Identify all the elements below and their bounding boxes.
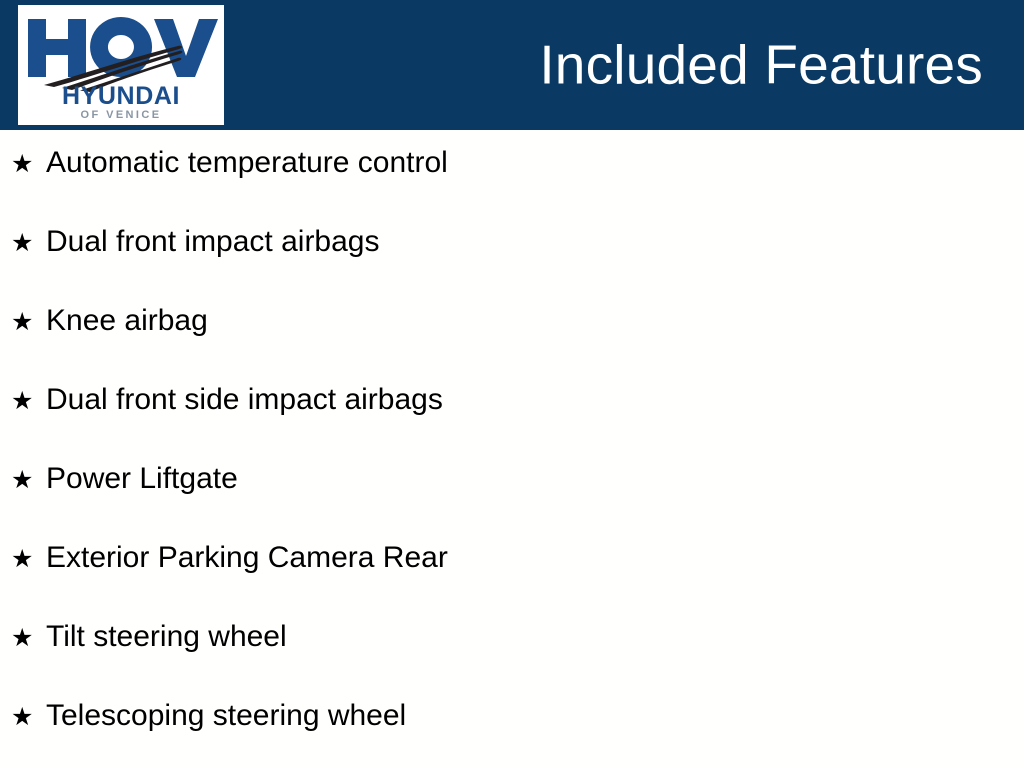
list-item: ★ Automatic temperature control bbox=[0, 148, 1024, 227]
feature-label: Exterior Parking Camera Rear bbox=[46, 543, 448, 573]
hov-hyundai-of-venice-logo-icon: HYUNDAI OF VENICE bbox=[18, 5, 224, 125]
feature-label: Power Liftgate bbox=[46, 464, 238, 494]
list-item: ★ Exterior Parking Camera Rear bbox=[0, 543, 1024, 622]
star-bullet-icon: ★ bbox=[11, 547, 46, 572]
feature-label: Tilt steering wheel bbox=[46, 622, 287, 652]
star-bullet-icon: ★ bbox=[11, 626, 46, 651]
list-item: ★ Telescoping steering wheel bbox=[0, 701, 1024, 768]
slide: HYUNDAI OF VENICE Included Features ★ Au… bbox=[0, 0, 1024, 768]
list-item: ★ Dual front side impact airbags bbox=[0, 385, 1024, 464]
svg-text:HYUNDAI: HYUNDAI bbox=[62, 82, 180, 110]
slide-header: HYUNDAI OF VENICE Included Features bbox=[0, 0, 1024, 130]
features-list: ★ Automatic temperature control ★ Dual f… bbox=[0, 130, 1024, 768]
svg-text:OF VENICE: OF VENICE bbox=[81, 109, 162, 121]
star-bullet-icon: ★ bbox=[11, 389, 46, 414]
star-bullet-icon: ★ bbox=[11, 468, 46, 493]
feature-label: Dual front side impact airbags bbox=[46, 385, 443, 415]
list-item: ★ Tilt steering wheel bbox=[0, 622, 1024, 701]
dealer-logo: HYUNDAI OF VENICE bbox=[18, 5, 224, 125]
feature-label: Telescoping steering wheel bbox=[46, 701, 406, 731]
feature-label: Knee airbag bbox=[46, 306, 208, 336]
list-item: ★ Knee airbag bbox=[0, 306, 1024, 385]
star-bullet-icon: ★ bbox=[11, 231, 46, 256]
feature-label: Automatic temperature control bbox=[46, 148, 448, 178]
star-bullet-icon: ★ bbox=[11, 705, 46, 730]
feature-label: Dual front impact airbags bbox=[46, 227, 380, 257]
star-bullet-icon: ★ bbox=[11, 310, 46, 335]
list-item: ★ Power Liftgate bbox=[0, 464, 1024, 543]
star-bullet-icon: ★ bbox=[11, 152, 46, 177]
page-title: Included Features bbox=[539, 38, 983, 93]
list-item: ★ Dual front impact airbags bbox=[0, 227, 1024, 306]
